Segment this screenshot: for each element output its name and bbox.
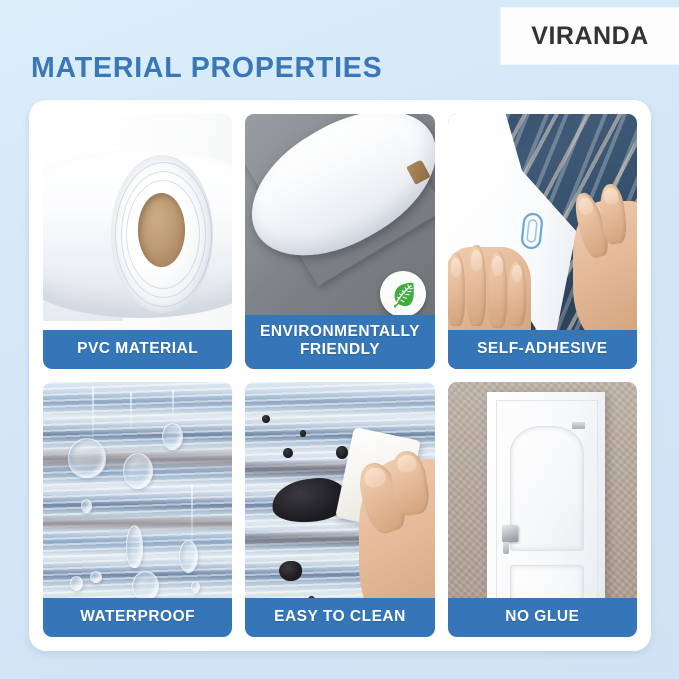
- feature-label-waterproof: WATERPROOF: [43, 598, 232, 637]
- page-title: MATERIAL PROPERTIES: [31, 52, 382, 85]
- eco-leaf-badge: [380, 271, 426, 317]
- feature-label-no-glue: NO GLUE: [448, 598, 637, 637]
- feature-label-environmentally-friendly: ENVIRONMENTALLY FRIENDLY: [245, 315, 434, 369]
- feature-cell-easy-to-clean[interactable]: EASY TO CLEAN: [245, 382, 434, 637]
- feature-label-easy-to-clean: EASY TO CLEAN: [245, 598, 434, 637]
- feature-cell-environmentally-friendly[interactable]: ENVIRONMENTALLY FRIENDLY: [245, 114, 434, 369]
- feature-card: PVC MATERIAL: [29, 100, 651, 651]
- brand-name: VIRANDA: [531, 22, 648, 51]
- feature-cell-no-glue[interactable]: NO GLUE: [448, 382, 637, 637]
- feature-cell-waterproof[interactable]: WATERPROOF: [43, 382, 232, 637]
- feature-label-self-adhesive: SELF-ADHESIVE: [448, 330, 637, 369]
- feature-cell-self-adhesive[interactable]: SELF-ADHESIVE: [448, 114, 637, 369]
- feature-grid: PVC MATERIAL: [43, 114, 637, 637]
- feature-label-pvc-material: PVC MATERIAL: [43, 330, 232, 369]
- feature-label-line-1: ENVIRONMENTALLY: [260, 323, 420, 340]
- feature-cell-pvc-material[interactable]: PVC MATERIAL: [43, 114, 232, 369]
- brand-logo-badge: VIRANDA: [501, 8, 679, 64]
- paperclip-icon: [518, 210, 546, 252]
- leaf-icon: [388, 279, 418, 309]
- hand-right: [573, 201, 637, 344]
- feature-label-line-2: FRIENDLY: [300, 341, 380, 358]
